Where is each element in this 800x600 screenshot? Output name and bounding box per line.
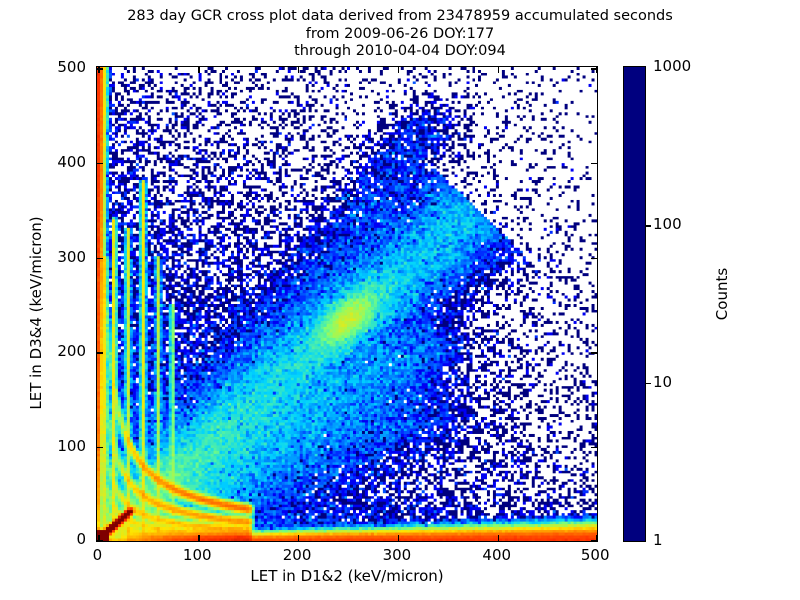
x-tick [498, 67, 499, 73]
colorbar-tick-label: 1 [653, 531, 663, 549]
colorbar-tick-label: 1000 [653, 57, 691, 75]
x-axis-title: LET in D1&2 (keV/micron) [96, 567, 598, 585]
density-heatmap [97, 67, 597, 541]
colorbar-tick [646, 383, 651, 384]
title-line-1: 283 day GCR cross plot data derived from… [0, 8, 800, 26]
y-tick [591, 447, 597, 448]
y-tick [97, 352, 103, 353]
y-tick-label: 0 [20, 530, 86, 548]
plot-area [96, 66, 598, 542]
x-tick-label: 100 [162, 546, 232, 564]
title-line-2: from 2009-06-26 DOY:177 [0, 26, 800, 44]
x-tick-label: 300 [362, 546, 432, 564]
x-tick [198, 67, 199, 73]
y-tick-label: 100 [20, 437, 86, 455]
y-tick-label: 500 [20, 58, 86, 76]
x-tick-label: 0 [62, 546, 132, 564]
y-tick [591, 540, 597, 541]
x-tick-label: 200 [262, 546, 332, 564]
x-tick [398, 535, 399, 541]
y-tick [591, 352, 597, 353]
colorbar-title: Counts [713, 184, 731, 404]
x-tick [498, 535, 499, 541]
y-tick [97, 447, 103, 448]
x-tick-label: 400 [462, 546, 532, 564]
y-tick-label: 400 [20, 153, 86, 171]
y-tick [591, 68, 597, 69]
colorbar [623, 66, 646, 542]
y-tick [591, 258, 597, 259]
figure: 283 day GCR cross plot data derived from… [0, 0, 800, 600]
y-tick [97, 68, 103, 69]
x-tick [398, 67, 399, 73]
y-tick [591, 163, 597, 164]
x-tick [298, 535, 299, 541]
colorbar-tick [646, 225, 651, 226]
x-tick [198, 535, 199, 541]
x-tick [298, 67, 299, 73]
y-axis-title: LET in D3&4 (keV/micron) [27, 203, 45, 423]
colorbar-tick-label: 10 [653, 373, 672, 391]
y-tick [97, 163, 103, 164]
colorbar-gradient [624, 67, 645, 541]
colorbar-tick-label: 100 [653, 215, 682, 233]
x-tick-label: 500 [560, 546, 630, 564]
y-tick [97, 540, 103, 541]
page-title: 283 day GCR cross plot data derived from… [0, 8, 800, 61]
y-tick [97, 258, 103, 259]
